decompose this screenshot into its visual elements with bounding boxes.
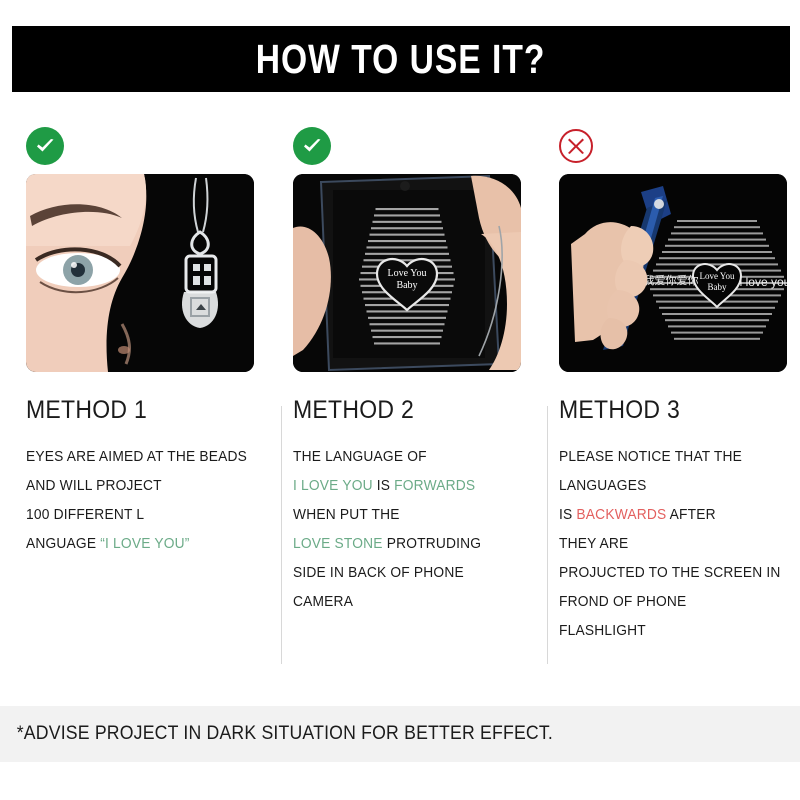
- column-divider: [547, 406, 548, 664]
- body-text: IS: [559, 507, 576, 523]
- method-text-line: I LOVE YOU IS FORWARDS: [293, 472, 508, 501]
- method-text-line: THE LANGUAGE OF: [293, 443, 508, 472]
- body-text: FLASHLIGHT: [559, 623, 646, 639]
- body-text: LANGUAGES: [559, 478, 646, 494]
- method-text-line: 100 DIFFERENT L: [26, 501, 241, 530]
- check-circle-icon: [293, 127, 331, 165]
- svg-text:Baby: Baby: [396, 280, 417, 291]
- body-text: CAMERA: [293, 594, 353, 610]
- body-text: ANGUAGE: [26, 536, 100, 552]
- method-text-block: METHOD 3PLEASE NOTICE THAT THELANGUAGESI…: [559, 372, 786, 646]
- method-lines: THE LANGUAGE OFI LOVE YOU IS FORWARDSWHE…: [293, 443, 520, 617]
- body-text: AND WILL PROJECT: [26, 478, 162, 494]
- highlight-green-text: LOVE STONE: [293, 536, 383, 552]
- method-title: METHOD 1: [26, 396, 234, 425]
- body-text: AFTER: [667, 507, 716, 523]
- method-text-line: AND WILL PROJECT: [26, 472, 241, 501]
- status-icon-wrap: [559, 118, 786, 174]
- body-text: FROND OF PHONE: [559, 594, 686, 610]
- footer-note-band: *ADVISE PROJECT IN DARK SITUATION FOR BE…: [0, 706, 800, 762]
- method-text-line: FROND OF PHONE: [559, 588, 774, 617]
- body-text: THEY ARE: [559, 536, 628, 552]
- body-text: EYES ARE AIMED AT THE BEADS: [26, 449, 247, 465]
- method-title: METHOD 3: [559, 396, 767, 425]
- method-title: METHOD 2: [293, 396, 501, 425]
- method-text-line: EYES ARE AIMED AT THE BEADS: [26, 443, 241, 472]
- svg-text:我爱你爱你: 我爱你爱你: [644, 274, 699, 287]
- highlight-green-text: “I LOVE YOU”: [100, 536, 189, 552]
- method-text-line: CAMERA: [293, 588, 508, 617]
- footer-note: *ADVISE PROJECT IN DARK SITUATION FOR BE…: [0, 723, 553, 745]
- method-text-line: SIDE IN BACK OF PHONE: [293, 559, 508, 588]
- method-lines: PLEASE NOTICE THAT THELANGUAGESIS BACKWA…: [559, 443, 786, 646]
- column-divider: [281, 406, 282, 664]
- header-banner: HOW TO USE IT?: [12, 26, 790, 92]
- method-photo-2: Love YouBaby: [293, 174, 521, 372]
- method-text-line: IS BACKWARDS AFTER: [559, 501, 774, 530]
- body-text: 100 DIFFERENT L: [26, 507, 144, 523]
- method-column-3: Love YouBaby我爱你爱你i love youMETHOD 3PLEAS…: [533, 118, 800, 688]
- svg-text:Love You: Love You: [700, 271, 736, 281]
- cross-circle-icon: [559, 129, 593, 163]
- method-column-2: Love YouBabyMETHOD 2THE LANGUAGE OFI LOV…: [267, 118, 534, 688]
- body-text: SIDE IN BACK OF PHONE: [293, 565, 464, 581]
- methods-row: METHOD 1EYES ARE AIMED AT THE BEADSAND W…: [0, 118, 800, 688]
- method-text-block: METHOD 2THE LANGUAGE OFI LOVE YOU IS FOR…: [293, 372, 520, 617]
- highlight-green-text: I LOVE YOU: [293, 478, 373, 494]
- method-photo-3: Love YouBaby我爱你爱你i love you: [559, 174, 787, 372]
- body-text: PROTRUDING: [382, 536, 481, 552]
- method-text-line: WHEN PUT THE: [293, 501, 508, 530]
- method-text-line: THEY ARE: [559, 530, 774, 559]
- method-column-1: METHOD 1EYES ARE AIMED AT THE BEADSAND W…: [0, 118, 267, 688]
- status-icon-wrap: [293, 118, 520, 174]
- method-text-line: PROJUCTED TO THE SCREEN IN: [559, 559, 774, 588]
- body-text: IS: [372, 478, 393, 494]
- body-text: PROJUCTED TO THE SCREEN IN: [559, 565, 781, 581]
- highlight-green-text: FORWARDS: [394, 478, 475, 494]
- status-icon-wrap: [26, 118, 253, 174]
- body-text: WHEN PUT THE: [293, 507, 400, 523]
- svg-text:Love You: Love You: [387, 268, 426, 279]
- highlight-red-text: BACKWARDS: [577, 507, 667, 523]
- body-text: PLEASE NOTICE THAT THE: [559, 449, 742, 465]
- method-text-line: LOVE STONE PROTRUDING: [293, 530, 508, 559]
- method-text-line: PLEASE NOTICE THAT THE: [559, 443, 774, 472]
- check-circle-icon: [26, 127, 64, 165]
- how-to-use-infographic: HOW TO USE IT? METHOD 1EYES ARE AIMED AT…: [0, 0, 800, 800]
- svg-text:Baby: Baby: [708, 282, 727, 292]
- method-text-block: METHOD 1EYES ARE AIMED AT THE BEADSAND W…: [26, 372, 253, 559]
- method-lines: EYES ARE AIMED AT THE BEADSAND WILL PROJ…: [26, 443, 253, 559]
- method-text-line: FLASHLIGHT: [559, 617, 774, 646]
- method-text-line: LANGUAGES: [559, 472, 774, 501]
- method-photo-1: [26, 174, 254, 372]
- svg-text:i love you: i love you: [740, 275, 787, 289]
- body-text: THE LANGUAGE OF: [293, 449, 427, 465]
- page-title: HOW TO USE IT?: [256, 36, 546, 83]
- method-text-line: ANGUAGE “I LOVE YOU”: [26, 530, 241, 559]
